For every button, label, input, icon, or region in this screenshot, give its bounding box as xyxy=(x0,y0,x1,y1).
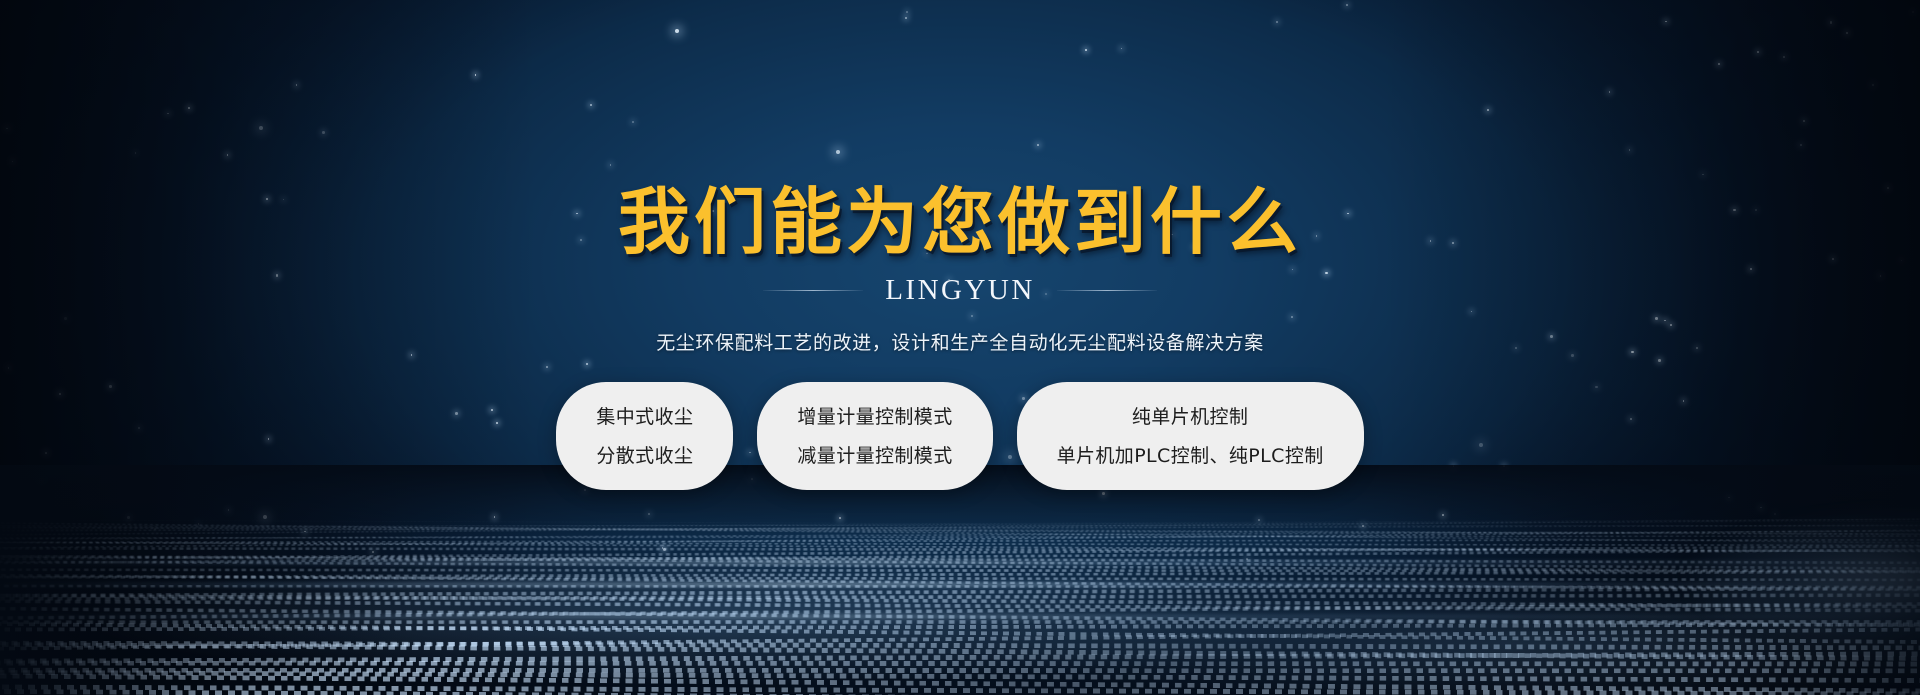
feature-card-controller-type[interactable]: 纯单片机控制 单片机加PLC控制、纯PLC控制 xyxy=(1017,382,1364,490)
page-title: 我们能为您做到什么 xyxy=(618,186,1302,258)
hero-banner: 我们能为您做到什么 LINGYUN 无尘环保配料工艺的改进，设计和生产全自动化无… xyxy=(0,0,1920,695)
divider-line-left xyxy=(763,290,863,291)
feature-card-list: 集中式收尘 分散式收尘 增量计量控制模式 减量计量控制模式 纯单片机控制 单片机… xyxy=(556,382,1363,490)
banner-content: 我们能为您做到什么 LINGYUN 无尘环保配料工艺的改进，设计和生产全自动化无… xyxy=(0,0,1920,695)
brand-divider-row: LINGYUN xyxy=(763,274,1157,307)
brand-name: LINGYUN xyxy=(885,274,1035,307)
divider-line-right xyxy=(1057,290,1157,291)
feature-card-line: 纯单片机控制 xyxy=(1132,402,1248,429)
feature-card-line: 减量计量控制模式 xyxy=(797,441,952,468)
page-subtitle: 无尘环保配料工艺的改进，设计和生产全自动化无尘配料设备解决方案 xyxy=(656,328,1264,355)
feature-card-line: 增量计量控制模式 xyxy=(797,402,952,429)
feature-card-line: 集中式收尘 xyxy=(596,402,693,429)
feature-card-line: 分散式收尘 xyxy=(596,441,693,468)
feature-card-line: 单片机加PLC控制、纯PLC控制 xyxy=(1057,441,1324,468)
feature-card-metering-control-mode[interactable]: 增量计量控制模式 减量计量控制模式 xyxy=(757,382,992,490)
feature-card-dust-collection[interactable]: 集中式收尘 分散式收尘 xyxy=(556,382,733,490)
